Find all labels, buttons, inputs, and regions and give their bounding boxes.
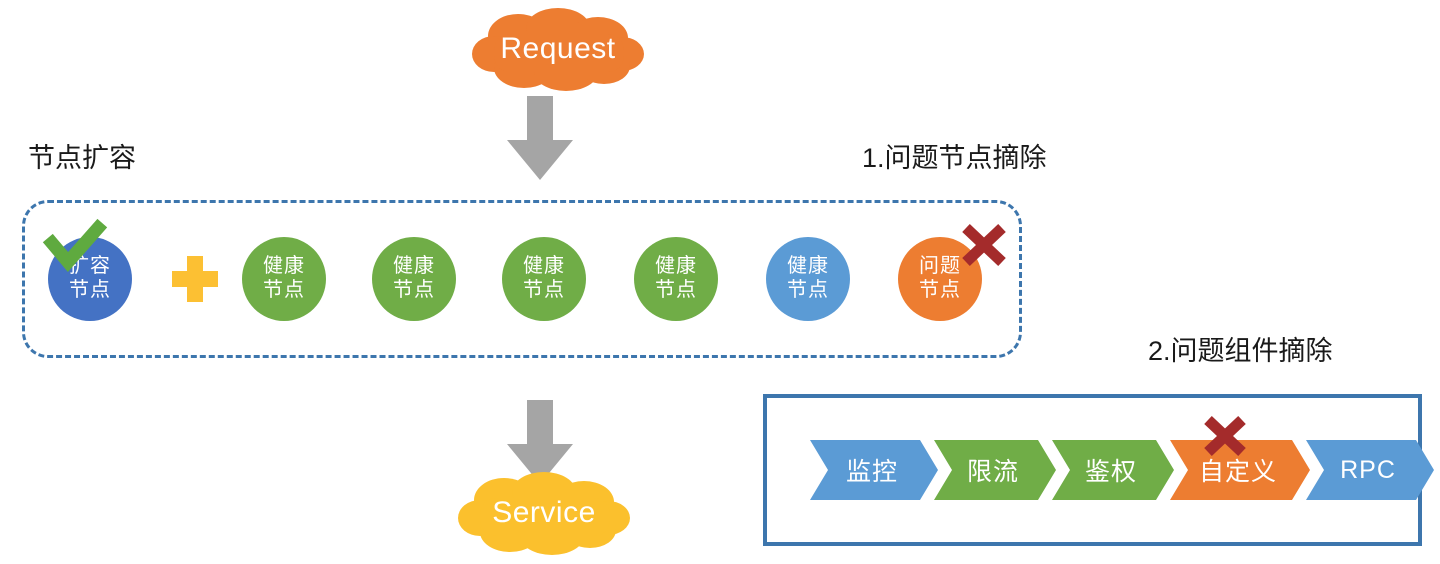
component-chevron[interactable]: 限流 <box>934 440 1056 500</box>
node-label-line1: 健康 <box>655 255 697 279</box>
node-circle[interactable]: 健康节点 <box>242 237 326 321</box>
component-chevron-label: 鉴权 <box>1085 452 1137 488</box>
node-label-line1: 健康 <box>787 255 829 279</box>
page-title-node-scaling: 节点扩容 <box>28 136 136 175</box>
node-circle[interactable]: 健康节点 <box>634 237 718 321</box>
component-chevron-label: 监控 <box>846 452 898 488</box>
diagram-canvas: Request 节点扩容 1.问题节点摘除 2.问题组件摘除 扩容节点健康节点健… <box>0 0 1440 564</box>
node-circle[interactable]: 健康节点 <box>502 237 586 321</box>
request-cloud: Request <box>466 6 650 92</box>
node-label-line2: 节点 <box>393 279 435 303</box>
node-label-line2: 节点 <box>263 279 305 303</box>
node-label-line2: 节点 <box>919 279 961 303</box>
node-circle[interactable]: 扩容节点 <box>48 237 132 321</box>
node-label-line2: 节点 <box>523 279 565 303</box>
service-cloud: Service <box>452 470 636 556</box>
plus-icon <box>172 256 218 302</box>
node-label-line1: 问题 <box>919 255 961 279</box>
node-circle[interactable]: 问题节点 <box>898 237 982 321</box>
component-chain-row: 监控限流鉴权自定义RPC <box>810 440 1430 500</box>
node-label-line2: 节点 <box>787 279 829 303</box>
node-circle[interactable]: 健康节点 <box>372 237 456 321</box>
component-chevron-label: 自定义 <box>1199 452 1277 488</box>
cloud-shape-icon <box>466 6 650 92</box>
component-chevron[interactable]: 鉴权 <box>1052 440 1174 500</box>
node-label-line2: 节点 <box>69 279 111 303</box>
component-chevron[interactable]: RPC <box>1306 440 1434 500</box>
component-chevron-label: RPC <box>1340 456 1396 485</box>
cloud-shape-icon <box>452 470 636 556</box>
component-chevron-label: 限流 <box>967 452 1019 488</box>
down-arrow-top-icon <box>497 96 583 187</box>
node-label-line1: 健康 <box>393 255 435 279</box>
page-title-step1: 1.问题节点摘除 <box>862 136 1047 175</box>
node-label-line1: 健康 <box>523 255 565 279</box>
node-label-line1: 扩容 <box>69 255 111 279</box>
node-circle[interactable]: 健康节点 <box>766 237 850 321</box>
component-chevron[interactable]: 监控 <box>810 440 938 500</box>
node-label-line1: 健康 <box>263 255 305 279</box>
node-label-line2: 节点 <box>655 279 697 303</box>
component-chevron[interactable]: 自定义 <box>1170 440 1310 500</box>
